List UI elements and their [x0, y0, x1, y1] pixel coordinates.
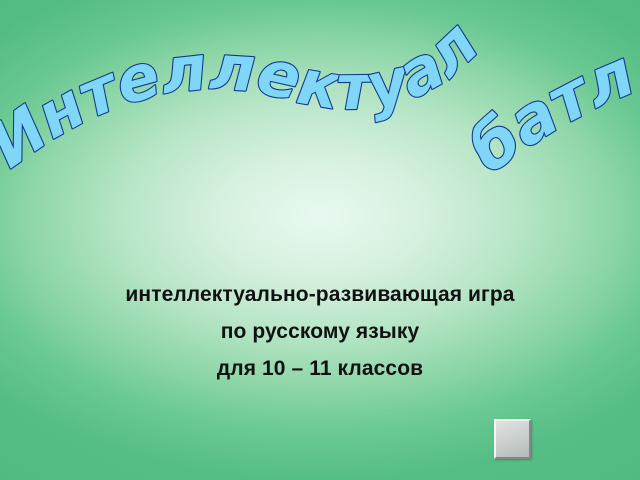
wordart-title: Интеллектуальный батл [0, 0, 640, 240]
subtitle-block: интеллектуально-развивающая игра по русс… [40, 276, 600, 387]
wordart-svg: Интеллектуальный батл [0, 0, 640, 240]
next-slide-button-face [496, 421, 529, 457]
subtitle-line-3: для 10 – 11 классов [40, 350, 600, 387]
next-slide-button[interactable] [494, 419, 531, 459]
slide-canvas: Интеллектуальный батл интеллектуально-ра… [0, 0, 640, 480]
wordart-word-1: Интеллектуальный [0, 0, 493, 182]
subtitle-line-1: интеллектуально-развивающая игра [40, 276, 600, 313]
subtitle-line-2: по русскому языку [40, 313, 600, 350]
